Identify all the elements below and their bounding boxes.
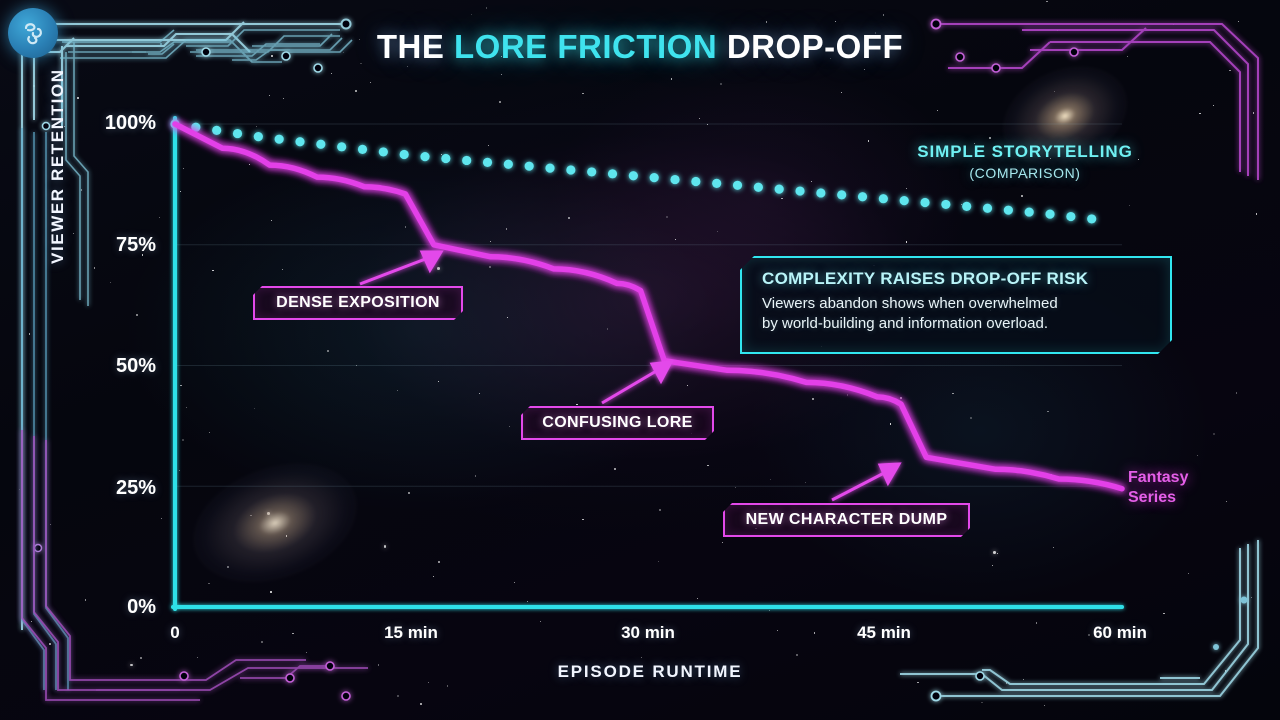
annotation-confusing-lore[interactable]: CONFUSING LORE [521,406,714,440]
series-label-fantasy-line1: Fantasy [1128,468,1248,488]
arrow-line-dense-exposition [360,258,428,284]
callout-body-line-1: Viewers abandon shows when overwhelmed [762,294,1154,314]
y-tick-label-100: 100% [84,112,156,135]
arrow-head-new-character-dump [880,464,899,483]
axis-group [173,118,1122,609]
arrow-head-dense-exposition [422,252,441,270]
annotation-dense-exposition[interactable]: DENSE EXPOSITION [253,286,463,320]
retention-line-chart [0,0,1280,720]
callout-complexity-risk: COMPLEXITY RAISES DROP-OFF RISK Viewers … [740,256,1172,354]
legend-simple-storytelling: SIMPLE STORYTELLING (COMPARISON) [880,141,1170,183]
series-label-fantasy-line2: Series [1128,488,1248,508]
y-tick-label-50: 50% [84,355,156,378]
x-tick-label-15: 15 min [351,623,471,643]
arrow-head-confusing-lore [652,362,671,381]
y-tick-label-75: 75% [84,234,156,257]
callout-body-line-2: by world-building and information overlo… [762,314,1154,334]
y-tick-label-0: 0% [84,596,156,619]
y-tick-label-25: 25% [84,477,156,500]
x-tick-label-45: 45 min [824,623,944,643]
x-tick-label-0: 0 [115,623,235,643]
callout-title: COMPLEXITY RAISES DROP-OFF RISK [762,269,1154,289]
legend-line-1: SIMPLE STORYTELLING [880,141,1170,164]
y-axis-label: VIEWER RETENTION [48,14,76,264]
x-axis-label: EPISODE RUNTIME [175,662,1125,682]
x-tick-label-60: 60 min [1060,623,1180,643]
series-label-fantasy: Fantasy Series [1128,468,1248,508]
x-tick-label-30: 30 min [588,623,708,643]
legend-line-2: (COMPARISON) [880,164,1170,183]
annotation-new-character-dump[interactable]: NEW CHARACTER DUMP [723,503,970,537]
infographic-canvas: THE LORE FRICTION DROP-OFF VIEWER RETENT… [0,0,1280,720]
arrow-line-confusing-lore [602,370,658,403]
